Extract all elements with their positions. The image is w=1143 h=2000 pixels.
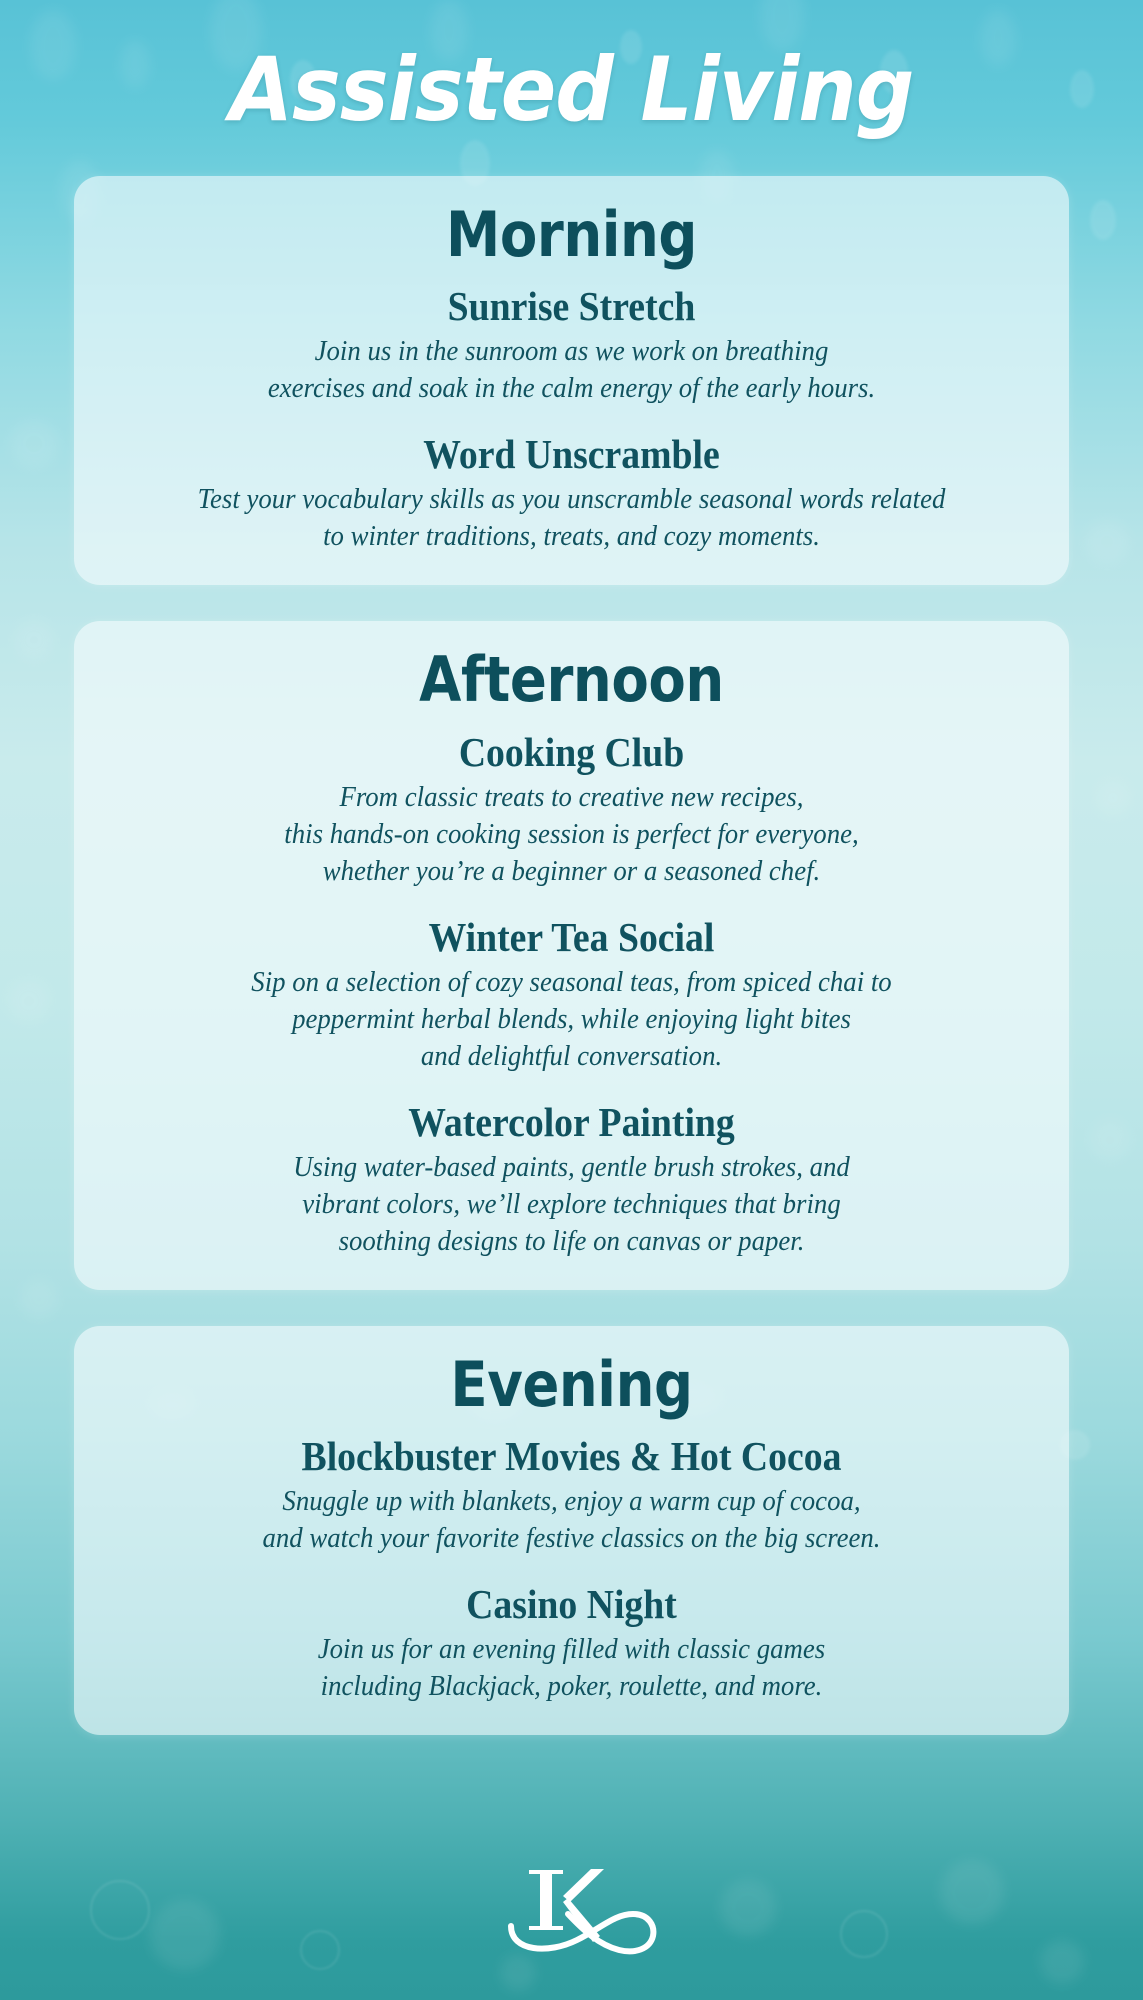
description-line: Using water-based paints, gentle brush s… [136,1149,1007,1186]
description-line: including Blackjack, poker, roulette, an… [136,1668,1007,1705]
description-line: vibrant colors, we’ll explore techniques… [136,1186,1007,1223]
description-line: Sip on a selection of cozy seasonal teas… [136,964,1007,1001]
activity-name: Casino Night [145,1579,998,1629]
activity-name: Cooking Club [145,727,998,777]
activity-item: Casino Night Join us for an evening fill… [108,1579,1035,1705]
description-line: peppermint herbal blends, while enjoying… [136,1001,1007,1038]
activity-name: Winter Tea Social [145,912,998,962]
activity-description: From classic treats to creative new reci… [136,779,1007,890]
flyer-page: Assisted Living Morning Sunrise Stretch … [0,0,1143,2000]
activity-description: Test your vocabulary skills as you unscr… [136,481,1007,555]
activity-item: Blockbuster Movies & Hot Cocoa Snuggle u… [108,1431,1035,1557]
activity-name: Sunrise Stretch [145,281,998,331]
activity-name: Blockbuster Movies & Hot Cocoa [145,1431,998,1481]
description-line: exercises and soak in the calm energy of… [136,370,1007,407]
activity-description: Snuggle up with blankets, enjoy a warm c… [136,1483,1007,1557]
description-line: this hands-on cooking session is perfect… [136,816,1007,853]
activity-item: Winter Tea Social Sip on a selection of … [108,912,1035,1075]
activity-description: Join us for an evening filled with class… [136,1631,1007,1705]
description-line: soothing designs to life on canvas or pa… [136,1223,1007,1260]
activity-item: Sunrise Stretch Join us in the sunroom a… [108,281,1035,407]
activity-description: Sip on a selection of cozy seasonal teas… [136,964,1007,1075]
activity-name: Watercolor Painting [145,1097,998,1147]
description-line: Test your vocabulary skills as you unscr… [136,481,1007,518]
section-title: Morning [164,198,980,271]
activity-description: Using water-based paints, gentle brush s… [136,1149,1007,1260]
k-monogram-logo-icon [467,1854,677,1974]
description-line: Join us for an evening filled with class… [136,1631,1007,1668]
activity-item: Watercolor Painting Using water-based pa… [108,1097,1035,1260]
description-line: Snuggle up with blankets, enjoy a warm c… [136,1483,1007,1520]
activity-description: Join us in the sunroom as we work on bre… [136,333,1007,407]
page-title: Assisted Living [40,0,1103,134]
section-card-evening: Evening Blockbuster Movies & Hot Cocoa S… [74,1326,1069,1735]
activity-name: Word Unscramble [145,429,998,479]
section-title: Afternoon [164,643,980,716]
section-title: Evening [164,1348,980,1421]
activity-item: Word Unscramble Test your vocabulary ski… [108,429,1035,555]
description-line: to winter traditions, treats, and cozy m… [136,518,1007,555]
activity-item: Cooking Club From classic treats to crea… [108,727,1035,890]
footer [0,1854,1143,1974]
section-card-afternoon: Afternoon Cooking Club From classic trea… [74,621,1069,1290]
section-card-morning: Morning Sunrise Stretch Join us in the s… [74,176,1069,585]
description-line: Join us in the sunroom as we work on bre… [136,333,1007,370]
description-line: From classic treats to creative new reci… [136,779,1007,816]
description-line: and watch your favorite festive classics… [136,1520,1007,1557]
sections-container: Morning Sunrise Stretch Join us in the s… [0,176,1143,1735]
description-line: whether you’re a beginner or a seasoned … [136,853,1007,890]
description-line: and delightful conversation. [136,1038,1007,1075]
